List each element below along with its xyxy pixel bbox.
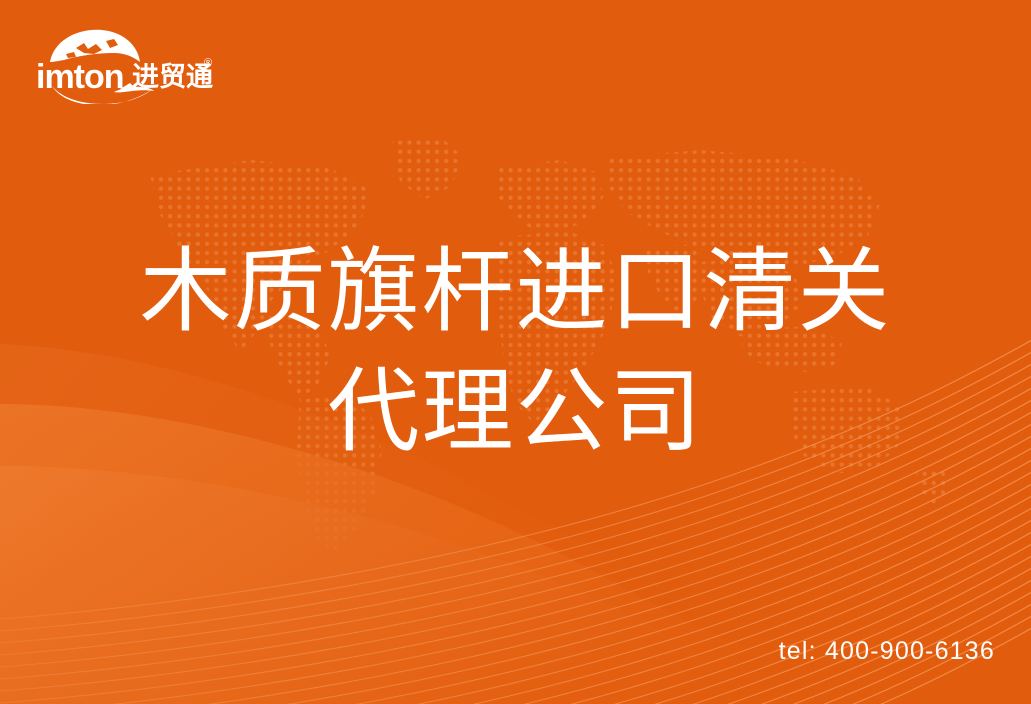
title-line-2: 代理公司 [0, 352, 1031, 472]
title-line-1: 木质旗杆进口清关 [0, 232, 1031, 352]
brand-logo[interactable]: imton 进贸通 ® [36, 26, 216, 104]
page-title: 木质旗杆进口清关 代理公司 [0, 232, 1031, 472]
promo-banner: imton 进贸通 ® 木质旗杆进口清关 代理公司 tel: 400-900-6… [0, 0, 1031, 704]
logo-wordmark: imton [36, 58, 124, 96]
contact-phone[interactable]: tel: 400-900-6136 [779, 637, 995, 666]
registered-trademark-icon: ® [204, 57, 212, 69]
